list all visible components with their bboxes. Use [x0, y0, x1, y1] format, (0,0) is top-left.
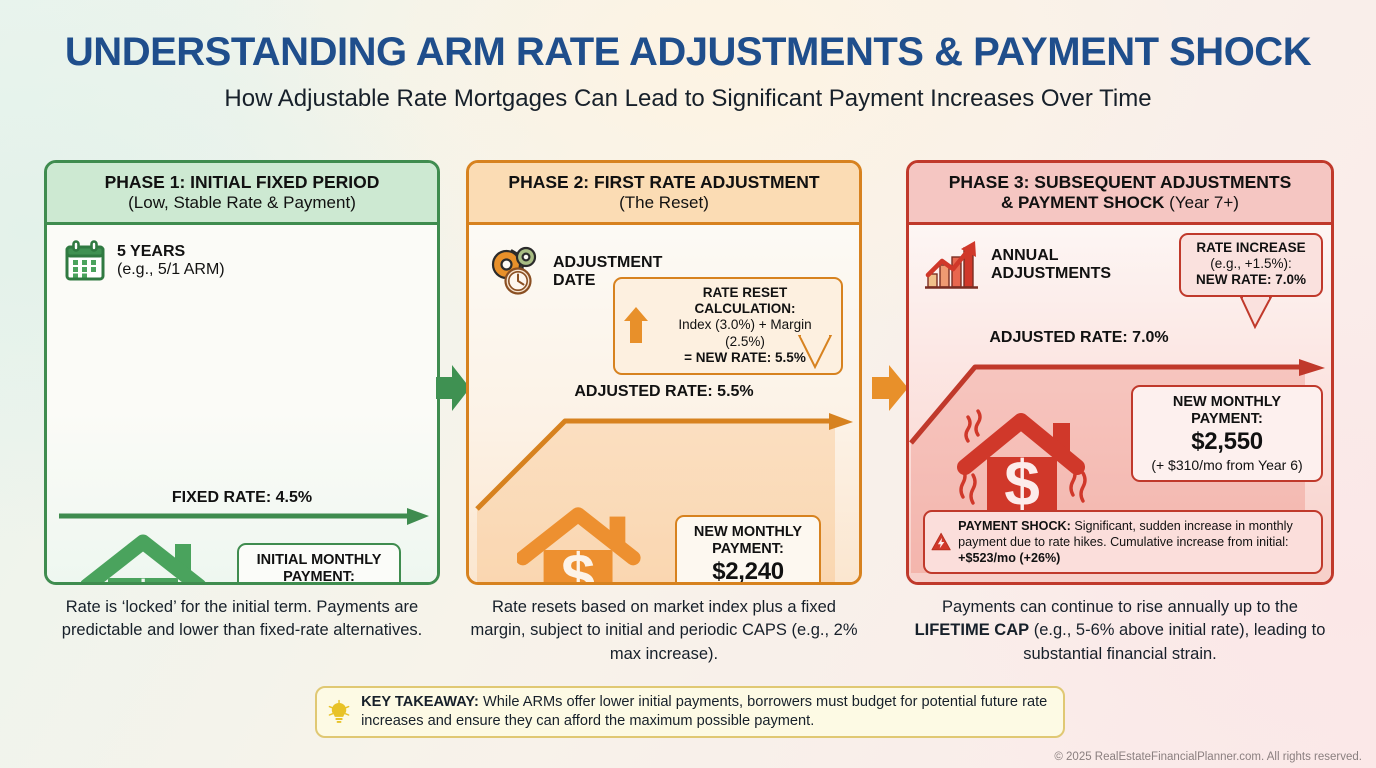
- phase-2-payment-card: NEW MONTHLY PAYMENT: $2,240 (+ $213/mo): [675, 515, 821, 585]
- phase-1-payment-title-2: PAYMENT:: [249, 569, 389, 585]
- phase-2-header: PHASE 2: FIRST RATE ADJUSTMENT (The Rese…: [469, 163, 859, 225]
- phase-3-header-line2-bold: & PAYMENT SHOCK: [1001, 193, 1164, 212]
- key-takeaway-label: KEY TAKEAWAY:: [361, 694, 479, 710]
- phase-2-adjustment-title: ADJUSTMENT: [553, 254, 662, 272]
- page-title: UNDERSTANDING ARM RATE ADJUSTMENTS & PAY…: [0, 30, 1376, 75]
- copyright-notice: © 2025 RealEstateFinancialPlanner.com. A…: [1054, 751, 1362, 763]
- phase-1-header: PHASE 1: INITIAL FIXED PERIOD (Low, Stab…: [47, 163, 437, 225]
- phase-3-payment-card: NEW MONTHLY PAYMENT: $2,550 (+ $310/mo f…: [1131, 385, 1323, 482]
- payment-shock-highlight: +$523/mo (+26%): [958, 551, 1060, 565]
- payment-shock-text: PAYMENT SHOCK: Significant, sudden incre…: [958, 518, 1313, 566]
- phase-1-panel: PHASE 1: INITIAL FIXED PERIOD (Low, Stab…: [44, 160, 440, 585]
- phase-3-caption-bold: LIFETIME CAP: [915, 621, 1030, 639]
- phase-3-header-line2-plain: (Year 7+): [1164, 193, 1239, 212]
- phase-3-annual-label: ANNUAL ADJUSTMENTS: [991, 247, 1111, 283]
- arrow-phase2-to-phase3: [872, 363, 910, 425]
- phase-1-header-line1: PHASE 1: INITIAL FIXED PERIOD: [105, 173, 380, 193]
- warning-bolt-icon: [931, 521, 951, 563]
- phase-3-header-line2: & PAYMENT SHOCK (Year 7+): [1001, 193, 1239, 212]
- phase-3-payment-amount: $2,550: [1143, 428, 1311, 456]
- phase-3-rate-label: ADJUSTED RATE: 7.0%: [909, 329, 1249, 347]
- phase-1-payment-card: INITIAL MONTHLY PAYMENT: $2,027 (Stable): [237, 543, 401, 585]
- phase-1-term-label: 5 YEARS (e.g., 5/1 ARM): [117, 243, 225, 279]
- up-arrow-icon: [623, 305, 649, 345]
- phase-1-caption: Rate is ‘locked’ for the initial term. P…: [44, 596, 440, 643]
- phase-1-rate-arrow: [57, 508, 433, 530]
- house-dollar-icon-green: $: [81, 528, 213, 585]
- phase-1-term-sub: (e.g., 5/1 ARM): [117, 261, 225, 279]
- phase-3-payment-title-2: PAYMENT:: [1143, 411, 1311, 428]
- phase-1-payment-title-1: INITIAL MONTHLY: [249, 552, 389, 569]
- phase-3-annual-sub: ADJUSTMENTS: [991, 265, 1111, 283]
- key-takeaway-text: KEY TAKEAWAY: While ARMs offer lower ini…: [361, 693, 1049, 732]
- phase-2-header-line2: (The Reset): [619, 193, 709, 212]
- phase-3-caption-post: (e.g., 5-6% above initial rate), leading…: [1023, 621, 1325, 662]
- page-subtitle: How Adjustable Rate Mortgages Can Lead t…: [0, 85, 1376, 113]
- phase-3-payment-title-1: NEW MONTHLY: [1143, 394, 1311, 411]
- phase-3-panel: PHASE 3: SUBSEQUENT ADJUSTMENTS & PAYMEN…: [906, 160, 1334, 585]
- phase-1-rate-label: FIXED RATE: 4.5%: [47, 489, 437, 507]
- phase-3-header: PHASE 3: SUBSEQUENT ADJUSTMENTS & PAYMEN…: [909, 163, 1331, 225]
- phase-2-payment-title-1: NEW MONTHLY: [687, 524, 809, 541]
- svg-text:$: $: [126, 570, 160, 585]
- payment-shock-label: PAYMENT SHOCK:: [958, 519, 1071, 533]
- phase-3-caption: Payments can continue to rise annually u…: [906, 596, 1334, 666]
- phase-2-payment-title-2: PAYMENT:: [687, 541, 809, 558]
- rising-bar-chart-icon: [923, 239, 981, 291]
- calendar-icon: [63, 239, 107, 283]
- phase-2-callout-title: RATE RESET CALCULATION:: [657, 285, 833, 317]
- phase-3-header-line1: PHASE 3: SUBSEQUENT ADJUSTMENTS: [949, 173, 1292, 193]
- svg-text:$: $: [561, 541, 595, 585]
- phase-2-payment-amount: $2,240: [687, 558, 809, 585]
- key-takeaway-banner: KEY TAKEAWAY: While ARMs offer lower ini…: [315, 686, 1065, 738]
- phase-3-caption-pre: Payments can continue to rise annually u…: [942, 598, 1298, 616]
- phase-1-body: 5 YEARS (e.g., 5/1 ARM) FIXED RATE: 4.5%…: [47, 225, 437, 585]
- phase-2-body: ADJUSTMENT DATE RATE RESET CALCULATION: …: [469, 225, 859, 585]
- phase-2-rate-label: ADJUSTED RATE: 5.5%: [469, 383, 859, 401]
- phase-3-callout-title: RATE INCREASE: [1187, 240, 1315, 256]
- phase-3-annual-row: ANNUAL ADJUSTMENTS: [923, 239, 1111, 291]
- phase-1-term-row: 5 YEARS (e.g., 5/1 ARM): [63, 239, 225, 283]
- phase-3-payment-note: (+ $310/mo from Year 6): [1143, 457, 1311, 474]
- house-dollar-icon-red-shaking: $: [945, 395, 1105, 523]
- phase-3-callout-line2: (e.g., +1.5%):: [1187, 256, 1315, 272]
- phase-2-caption: Rate resets based on market index plus a…: [466, 596, 862, 666]
- phase-3-body: ANNUAL ADJUSTMENTS RATE INCREASE (e.g., …: [909, 225, 1331, 585]
- gears-clock-icon: [485, 243, 543, 301]
- phase-2-callout-tail: [797, 335, 833, 369]
- phase-3-rate-increase-callout: RATE INCREASE (e.g., +1.5%): NEW RATE: 7…: [1179, 233, 1323, 297]
- phase-2-header-line1: PHASE 2: FIRST RATE ADJUSTMENT: [508, 173, 819, 193]
- phase-2-panel: PHASE 2: FIRST RATE ADJUSTMENT (The Rese…: [466, 160, 862, 585]
- phase-1-term-title: 5 YEARS: [117, 243, 225, 261]
- house-dollar-icon-orange: $: [517, 500, 647, 585]
- phase-1-header-line2: (Low, Stable Rate & Payment): [128, 193, 356, 212]
- phase-3-callout-tail: [1239, 297, 1273, 329]
- lightbulb-icon: [327, 691, 351, 733]
- phase-3-callout-line3: NEW RATE: 7.0%: [1187, 272, 1315, 288]
- phase-3-annual-title: ANNUAL: [991, 247, 1111, 265]
- svg-text:$: $: [1004, 447, 1040, 519]
- payment-shock-banner: PAYMENT SHOCK: Significant, sudden incre…: [923, 510, 1323, 574]
